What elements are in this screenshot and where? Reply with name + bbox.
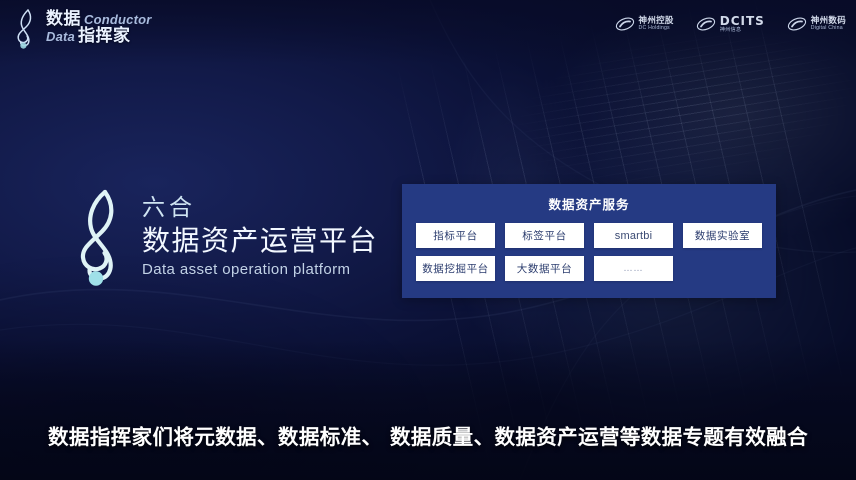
treble-clef-icon [72, 186, 130, 286]
partner-text: 神州数码 Digital China [811, 17, 846, 31]
brand-en-data: Data [46, 30, 75, 43]
treble-clef-icon [12, 7, 42, 49]
data-asset-service-panel: 数据资产服务 指标平台 标签平台 smartbi 数据实验室 数据挖掘平台 大数… [402, 184, 776, 298]
brand-line-2: Data 指挥家 [46, 28, 152, 45]
chip-biaoqian-pingtai[interactable]: 标签平台 [505, 223, 584, 248]
brand-cn-bottom: 指挥家 [78, 28, 131, 45]
brand-en-conductor: Conductor [84, 13, 152, 26]
partner-logo-dc-holdings: 神州控股 DC Holdings [615, 16, 674, 32]
chip-shuju-shiyanshi[interactable]: 数据实验室 [683, 223, 762, 248]
chip-dashuju-pingtai[interactable]: 大数据平台 [505, 256, 584, 281]
hero-text: 六合 数据资产运营平台 Data asset operation platfor… [142, 194, 378, 278]
brand-cn-top: 数据 [46, 11, 81, 28]
partner-text: DCITS 神州信息 [720, 15, 765, 33]
clef-dot-icon [89, 271, 103, 285]
background-bottom-shade [0, 340, 856, 480]
partner-logo-row: 神州控股 DC Holdings DCITS 神州信息 神州数码 Digital… [615, 10, 846, 38]
panel-title: 数据资产服务 [402, 184, 776, 213]
caption-text: 数据指挥家们将元数据、数据标准、 数据质量、数据资产运营等数据专题有效融合 [0, 420, 856, 450]
brand-logo: 数据 Conductor Data 指挥家 [12, 6, 152, 50]
partner-logo-digital-china: 神州数码 Digital China [787, 16, 846, 32]
partner-cn: DCITS [720, 15, 765, 28]
hero-block: 六合 数据资产运营平台 Data asset operation platfor… [72, 186, 378, 286]
swirl-icon [787, 16, 807, 32]
clef-dot-icon [20, 43, 26, 49]
panel-chip-grid: 指标平台 标签平台 smartbi 数据实验室 数据挖掘平台 大数据平台 …… [402, 213, 776, 281]
swirl-icon [615, 16, 635, 32]
partner-en: Digital China [811, 26, 846, 31]
chip-shuju-wajue-pingtai[interactable]: 数据挖掘平台 [416, 256, 495, 281]
hero-title: 数据资产运营平台 [142, 223, 378, 258]
hero-subtitle: 六合 [142, 194, 378, 223]
chip-zhibiao-pingtai[interactable]: 指标平台 [416, 223, 495, 248]
partner-logo-dcits: DCITS 神州信息 [696, 15, 765, 33]
partner-text: 神州控股 DC Holdings [639, 17, 674, 31]
chip-more-ellipsis[interactable]: …… [594, 256, 673, 281]
slide-canvas: 数据 Conductor Data 指挥家 神州控股 DC Holdings [0, 0, 856, 480]
brand-wordmark: 数据 Conductor Data 指挥家 [46, 11, 152, 46]
partner-en: 神州信息 [720, 28, 765, 33]
chip-smartbi[interactable]: smartbi [594, 223, 673, 248]
hero-title-en: Data asset operation platform [142, 261, 378, 278]
partner-en: DC Holdings [639, 26, 674, 31]
swirl-icon [696, 16, 716, 32]
